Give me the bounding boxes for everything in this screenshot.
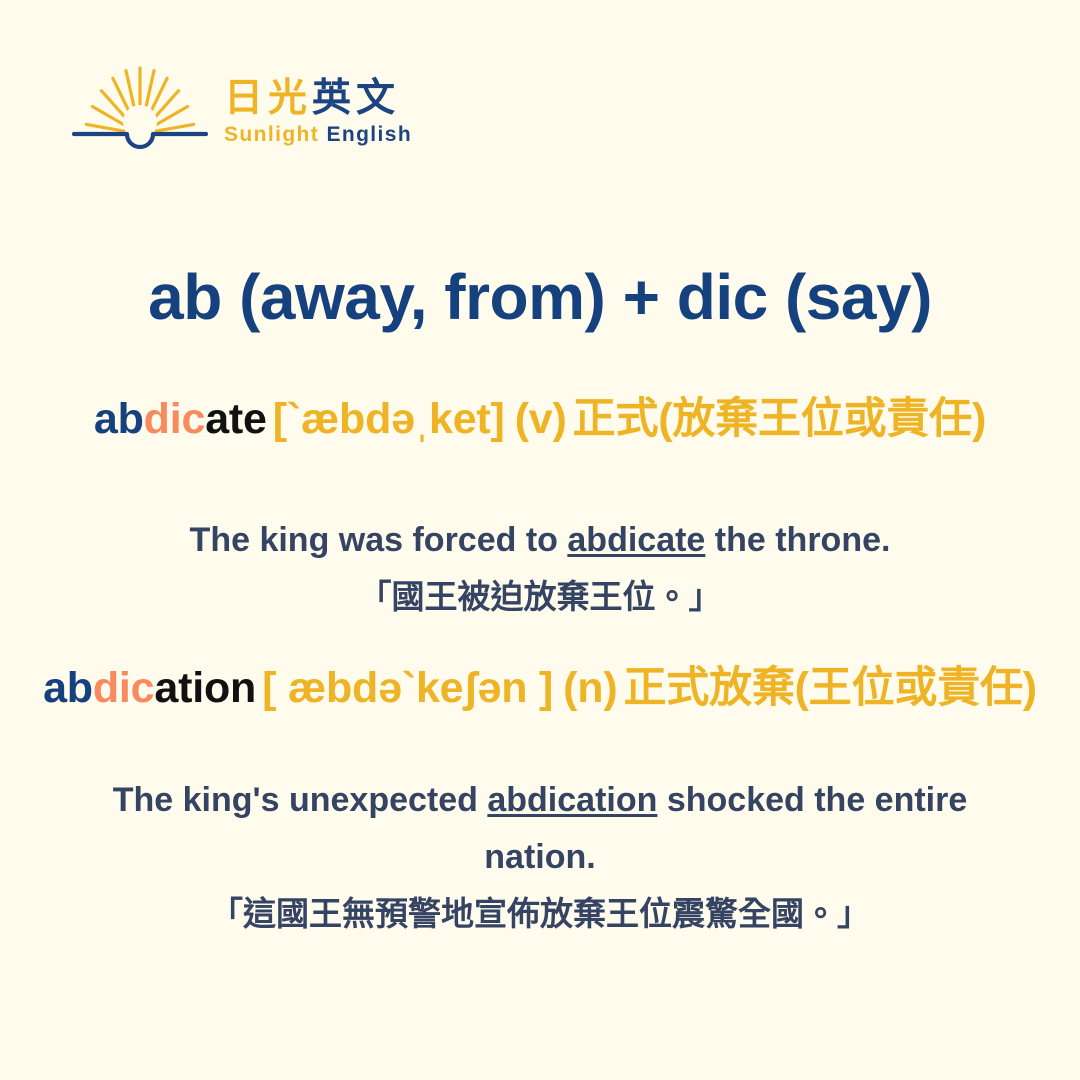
entry-abdicate: abdicate[`æbdəˌket](v)正式(放棄王位或責任) xyxy=(0,394,1080,446)
headword-suffix: ate xyxy=(205,395,267,443)
gloss-chinese: 正式(放棄王位或責任) xyxy=(573,395,986,443)
headword-suffix: ation xyxy=(154,664,256,712)
phonetic-transcription: [ æbdə`keʃən ] xyxy=(262,664,553,712)
sunburst-open-book-icon xyxy=(70,62,210,160)
example-sentence-zh: 「國王被迫放棄王位。」 xyxy=(0,571,1080,624)
example-text-before: The king was forced to xyxy=(190,521,568,559)
page-title: ab (away, from) + dic (say) xyxy=(0,262,1080,332)
brand-latin-eng: English xyxy=(326,123,412,146)
example-text-before: The king's unexpected xyxy=(113,781,488,819)
part-of-speech: (n) xyxy=(563,664,617,712)
example-keyword: abdicate xyxy=(567,521,705,559)
example-text-after: the throne. xyxy=(705,521,890,559)
entry-abdication: abdication[ æbdə`keʃən ](n)正式放棄(王位或責任) xyxy=(0,663,1080,715)
headword-prefix: ab xyxy=(43,664,93,712)
brand-name-latin: Sunlight English xyxy=(224,123,412,147)
part-of-speech: (v) xyxy=(515,395,567,443)
brand-name-cjk: 日光英文 xyxy=(224,78,412,120)
example-sentence-en: The king's unexpected abdication shocked… xyxy=(0,772,1080,886)
example-sentence-en: The king was forced to abdicate the thro… xyxy=(0,512,1080,569)
brand-wordmark: 日光英文 Sunlight English xyxy=(224,74,412,147)
phonetic-transcription: [`æbdəˌket] xyxy=(273,395,505,443)
brand-cjk-eng: 英文 xyxy=(312,77,400,120)
gloss-chinese: 正式放棄(王位或責任) xyxy=(623,664,1036,712)
example-sentence-zh: 「這國王無預警地宣佈放棄王位震驚全國。」 xyxy=(0,888,1080,941)
brand-latin-sun: Sunlight xyxy=(224,123,319,146)
headword-prefix: ab xyxy=(94,395,144,443)
headword-root: dic xyxy=(144,395,206,443)
headword-line: abdication[ æbdə`keʃən ](n)正式放棄(王位或責任) xyxy=(0,663,1080,715)
brand-cjk-sun: 日光 xyxy=(224,77,312,120)
example-block-abdicate: The king was forced to abdicate the thro… xyxy=(0,512,1080,624)
headword-root: dic xyxy=(93,664,155,712)
example-block-abdication: The king's unexpected abdication shocked… xyxy=(0,772,1080,941)
brand-logo: 日光英文 Sunlight English xyxy=(70,62,412,160)
example-keyword: abdication xyxy=(487,781,657,819)
headword-line: abdicate[`æbdəˌket](v)正式(放棄王位或責任) xyxy=(0,394,1080,446)
